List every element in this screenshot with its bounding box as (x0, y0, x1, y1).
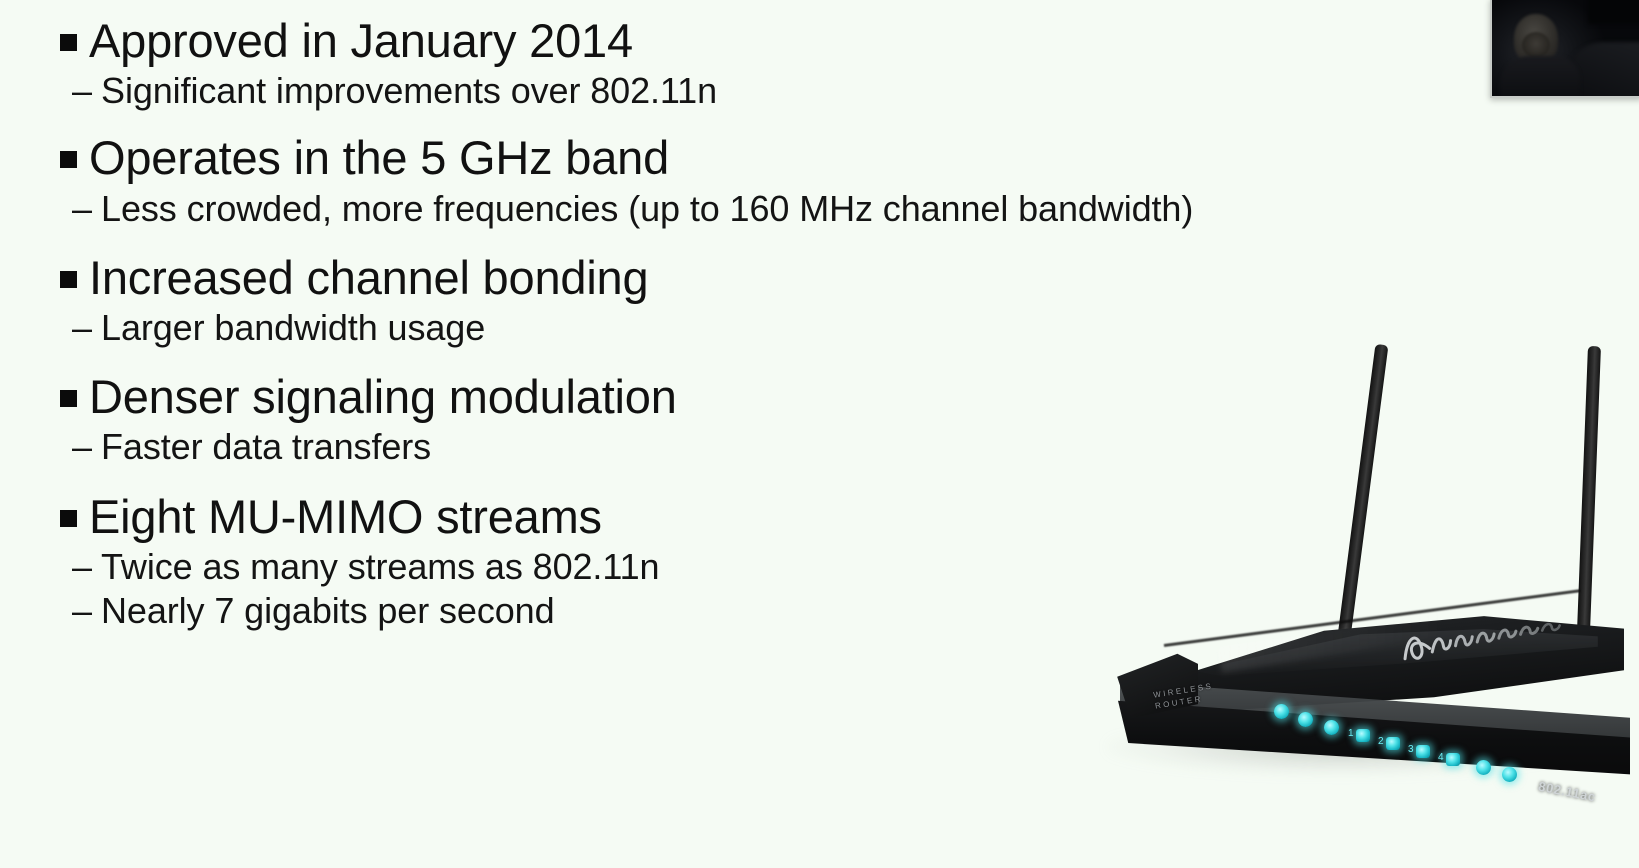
video-dark-region (1588, 0, 1639, 24)
sub-bullet: – Less crowded, more frequencies (up to … (0, 189, 1560, 229)
main-bullet-label: Denser signaling modulation (89, 370, 677, 423)
dash-bullet-icon: – (72, 547, 92, 587)
router-led-number-1: 1 (1348, 728, 1354, 739)
presenter-body (1500, 56, 1580, 98)
router-led-number-2: 2 (1378, 736, 1384, 747)
sub-bullet: – Significant improvements over 802.11n (0, 71, 1560, 111)
bullet-group: Approved in January 2014 – Significant i… (0, 14, 1560, 111)
square-bullet-icon (60, 151, 77, 168)
main-bullet-label: Increased channel bonding (89, 251, 648, 304)
presenter-video-thumbnail[interactable] (1490, 0, 1639, 98)
router-standard-label: 802.11ac (1537, 779, 1597, 805)
sub-bullet-label: Twice as many streams as 802.11n (101, 547, 659, 587)
router-led-lan1-icon (1356, 729, 1370, 742)
main-bullet-label: Eight MU-MIMO streams (89, 490, 602, 543)
router-led-lan3-icon (1416, 745, 1430, 758)
sub-bullet-label: Significant improvements over 802.11n (101, 71, 717, 111)
sub-bullet-label: Less crowded, more frequencies (up to 16… (101, 189, 1193, 229)
main-bullet: Operates in the 5 GHz band (0, 131, 1560, 184)
sub-bullet-label: Nearly 7 gigabits per second (101, 591, 554, 631)
main-bullet-label: Operates in the 5 GHz band (89, 131, 669, 184)
dash-bullet-icon: – (72, 71, 92, 111)
square-bullet-icon (60, 34, 77, 51)
main-bullet: Approved in January 2014 (0, 14, 1560, 67)
router-led-wps-icon (1324, 720, 1339, 735)
router-led-lan4-icon (1446, 753, 1460, 766)
router-antenna-right (1576, 346, 1601, 658)
router-led-number-4: 4 (1438, 752, 1444, 763)
square-bullet-icon (60, 271, 77, 288)
sub-bullet-label: Larger bandwidth usage (101, 308, 485, 348)
square-bullet-icon (60, 510, 77, 527)
main-bullet: Increased channel bonding (0, 251, 1560, 304)
router-led-wifi-icon (1298, 712, 1313, 727)
wireless-router-photo: WIRELESS ROUTER 1 2 3 4 802.11ac (1098, 326, 1639, 806)
bullet-group: Operates in the 5 GHz band – Less crowde… (0, 131, 1560, 228)
router-led-number-3: 3 (1408, 744, 1414, 755)
dash-bullet-icon: – (72, 427, 92, 467)
presenter-face (1522, 32, 1550, 58)
dash-bullet-icon: – (72, 308, 92, 348)
presentation-slide: Approved in January 2014 – Significant i… (0, 0, 1639, 868)
router-led-wan-icon (1476, 760, 1491, 775)
square-bullet-icon (60, 390, 77, 407)
dash-bullet-icon: – (72, 591, 92, 631)
router-led-lan2-icon (1386, 737, 1400, 750)
router-led-usb-icon (1502, 767, 1517, 782)
dash-bullet-icon: – (72, 189, 92, 229)
router-led-power-icon (1274, 704, 1289, 719)
main-bullet-label: Approved in January 2014 (89, 14, 633, 67)
sub-bullet-label: Faster data transfers (101, 427, 431, 467)
